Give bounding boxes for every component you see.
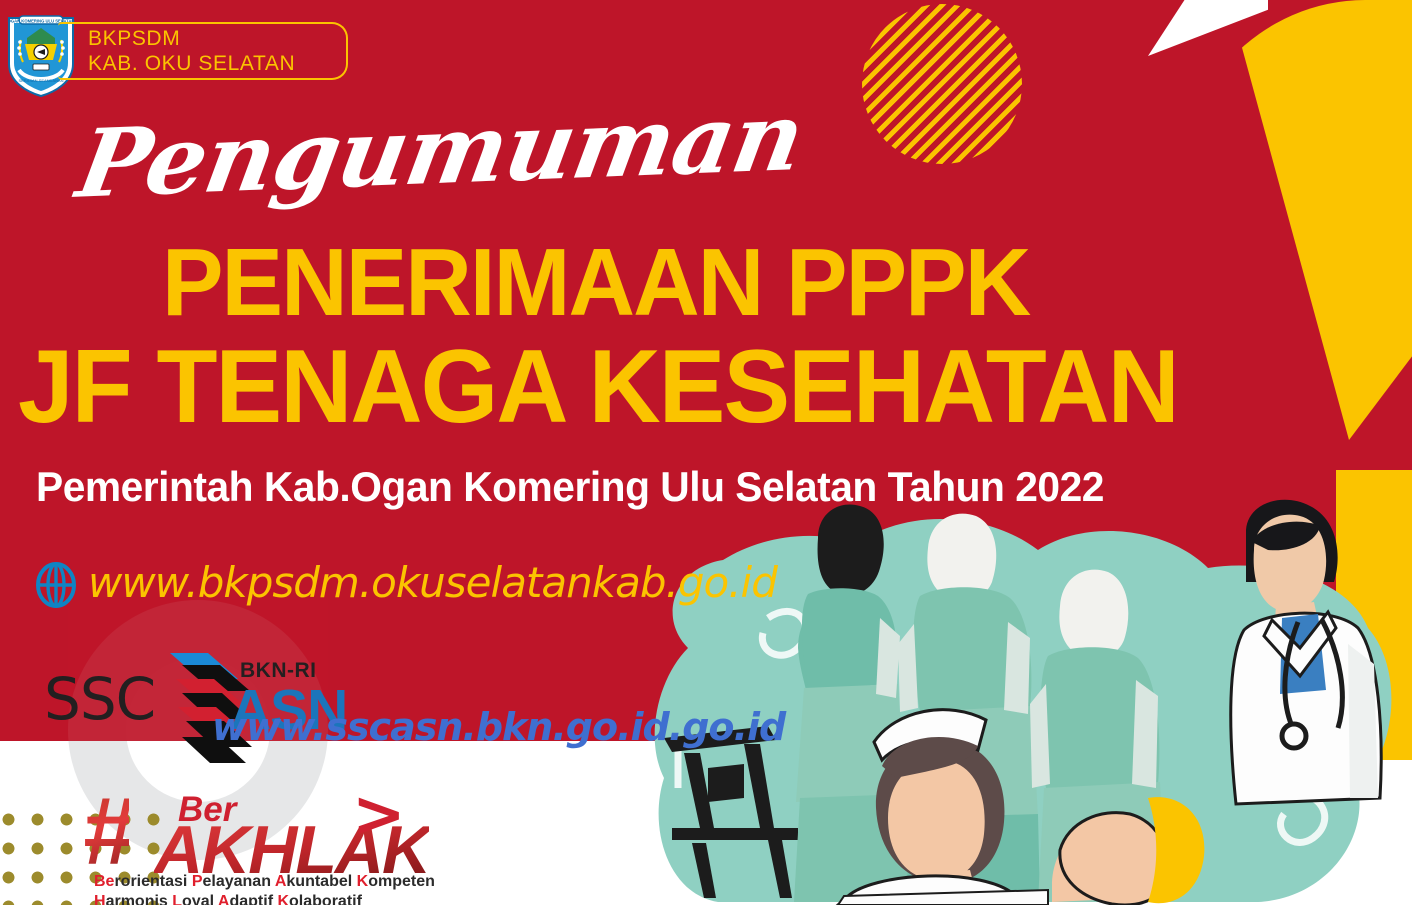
headline-line-1: PENERIMAAN PPPK (162, 228, 1029, 338)
tagline-rest: ompeten (368, 873, 435, 890)
sscasn-ssc-text: SSC (44, 665, 155, 733)
tagline-accent: H (94, 893, 106, 905)
subtitle-text: Pemerintah Kab.Ogan Komering Ulu Selatan… (36, 463, 1104, 511)
tagline-rest: elayanan (202, 873, 274, 890)
globe-icon (33, 562, 79, 608)
berakhlak-tagline: Berorientasi Pelayanan Akuntabel Kompete… (94, 872, 435, 905)
header-line-1: BKPSDM (88, 26, 295, 51)
berakhlak-tagline-line-2: Harmonis Loyal Adaptif Kolaboratif (94, 892, 435, 905)
portal-url-link[interactable]: www.sscasn.bkn.go.id.go.id (212, 705, 785, 749)
headline-line-2: JF TENAGA KESEHATAN (18, 328, 1178, 447)
berakhlak-tagline-line-1: Berorientasi Pelayanan Akuntabel Kompete… (94, 872, 435, 892)
tagline-rest: armonis (106, 893, 173, 905)
website-url-link[interactable]: www.bkpsdm.okuselatankab.go.id (88, 558, 777, 607)
tagline-rest: daptif (229, 893, 277, 905)
tagline-accent: K (357, 873, 369, 890)
tagline-accent: P (192, 873, 203, 890)
header-agency-name: BKPSDM KAB. OKU SELATAN (88, 26, 295, 76)
tagline-accent: A (218, 893, 230, 905)
tagline-rest: kuntabel (286, 873, 356, 890)
tagline-rest: olaboratif (289, 893, 362, 905)
tagline-accent: A (275, 873, 287, 890)
berakhlak-hash: # (82, 784, 129, 880)
berakhlak-logo: # Ber AKHLAK > Berorientasi Pelayanan Ak… (82, 776, 422, 896)
tagline-accent: Be (94, 873, 114, 890)
tagline-accent: K (277, 893, 289, 905)
berakhlak-chevron-icon: > (352, 778, 406, 852)
svg-text:SERASAN SEANDANAN: SERASAN SEANDANAN (18, 78, 63, 83)
striped-circle-decor (862, 4, 1022, 164)
announcement-poster: OGAN KOMERING ULU SELATAN SERASAN SEANDA… (0, 0, 1412, 905)
header-line-2: KAB. OKU SELATAN (88, 51, 295, 76)
tagline-rest: oyal (182, 893, 218, 905)
tagline-accent: L (172, 893, 182, 905)
tagline-rest: rorientasi (114, 873, 191, 890)
